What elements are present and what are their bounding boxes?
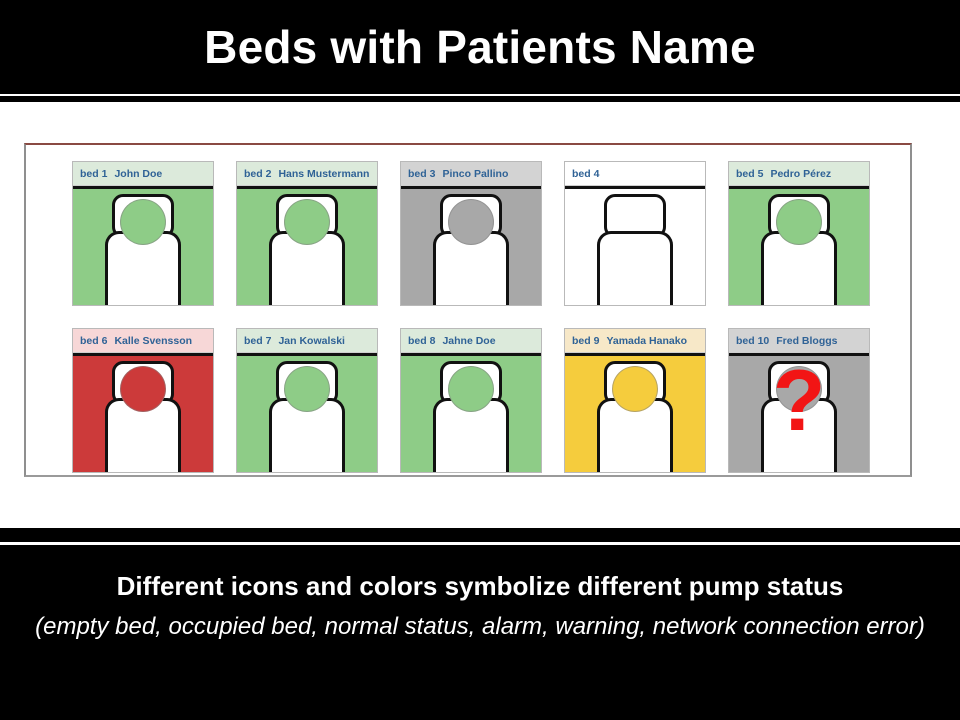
bed-card-header: bed 1John Doe [73,162,213,186]
caption-block: Different icons and colors symbolize dif… [0,570,960,642]
bed-card-header: bed 9Yamada Hanako [565,329,705,353]
bed-number-label: bed 5 [736,168,763,180]
bed-card[interactable]: bed 5Pedro Pérez [728,161,870,306]
bed-card[interactable]: bed 4 [564,161,706,306]
bed-number-label: bed 2 [244,168,271,180]
patient-head-icon [284,199,330,245]
bed-card-header: bed 5Pedro Pérez [729,162,869,186]
bed-card[interactable]: bed 8Jahne Doe [400,328,542,473]
bed-status-field [73,186,213,305]
patient-head-icon [120,366,166,412]
title-band: Beds with Patients Name [0,0,960,94]
bed-grid: bed 1John Doebed 2Hans Mustermannbed 3Pi… [72,161,872,473]
patient-head-icon [120,199,166,245]
patient-name-label: Pedro Pérez [770,168,831,180]
bed-card[interactable]: bed 10Fred Bloggs? [728,328,870,473]
patient-head-icon [776,199,822,245]
bed-card-header: bed 10Fred Bloggs [729,329,869,353]
patient-name-label: Fred Bloggs [776,335,837,347]
patient-head-icon [612,366,658,412]
bed-card[interactable]: bed 3Pinco Pallino [400,161,542,306]
caption-line-primary: Different icons and colors symbolize dif… [0,570,960,603]
patient-head-icon [448,366,494,412]
patient-head-icon [448,199,494,245]
bed-status-field [565,186,705,305]
caption-line-secondary: (empty bed, occupied bed, normal status,… [0,611,960,642]
bed-overview-panel: bed 1John Doebed 2Hans Mustermannbed 3Pi… [24,143,912,477]
patient-name-label: Hans Mustermann [278,168,369,180]
patient-name-label: Yamada Hanako [606,335,687,347]
bed-card-header: bed 2Hans Mustermann [237,162,377,186]
bed-number-label: bed 10 [736,335,769,347]
patient-name-label: Kalle Svensson [114,335,192,347]
page-title: Beds with Patients Name [204,24,756,70]
bed-card[interactable]: bed 7Jan Kowalski [236,328,378,473]
bed-status-field [729,186,869,305]
bed-status-field [401,353,541,472]
bed-card[interactable]: bed 9Yamada Hanako [564,328,706,473]
bed-card[interactable]: bed 6Kalle Svensson [72,328,214,473]
bed-card-header: bed 3Pinco Pallino [401,162,541,186]
bed-number-label: bed 3 [408,168,435,180]
bed-card-header: bed 8Jahne Doe [401,329,541,353]
bed-number-label: bed 9 [572,335,599,347]
patient-name-label: Jan Kowalski [278,335,345,347]
bed-card[interactable]: bed 1John Doe [72,161,214,306]
bed-number-label: bed 1 [80,168,107,180]
bed-card-header: bed 4 [565,162,705,186]
bed-card-header: bed 7Jan Kowalski [237,329,377,353]
bed-number-label: bed 6 [80,335,107,347]
patient-head-icon [284,366,330,412]
bed-status-field [237,186,377,305]
slide-root: Beds with Patients Name bed 1John Doebed… [0,0,960,720]
question-mark-icon: ? [773,358,826,444]
bed-number-label: bed 4 [572,168,599,180]
bed-card[interactable]: bed 2Hans Mustermann [236,161,378,306]
content-stage: bed 1John Doebed 2Hans Mustermannbed 3Pi… [0,102,960,528]
bed-status-field [73,353,213,472]
bed-status-field [401,186,541,305]
patient-name-label: John Doe [114,168,162,180]
bed-number-label: bed 7 [244,335,271,347]
patient-name-label: Jahne Doe [442,335,495,347]
bed-body-icon [597,231,673,305]
bed-status-field: ? [729,353,869,472]
caption-band: Different icons and colors symbolize dif… [0,528,960,720]
caption-divider [0,542,960,545]
bed-card-header: bed 6Kalle Svensson [73,329,213,353]
bed-number-label: bed 8 [408,335,435,347]
bed-status-field [237,353,377,472]
patient-name-label: Pinco Pallino [442,168,508,180]
bed-status-field [565,353,705,472]
